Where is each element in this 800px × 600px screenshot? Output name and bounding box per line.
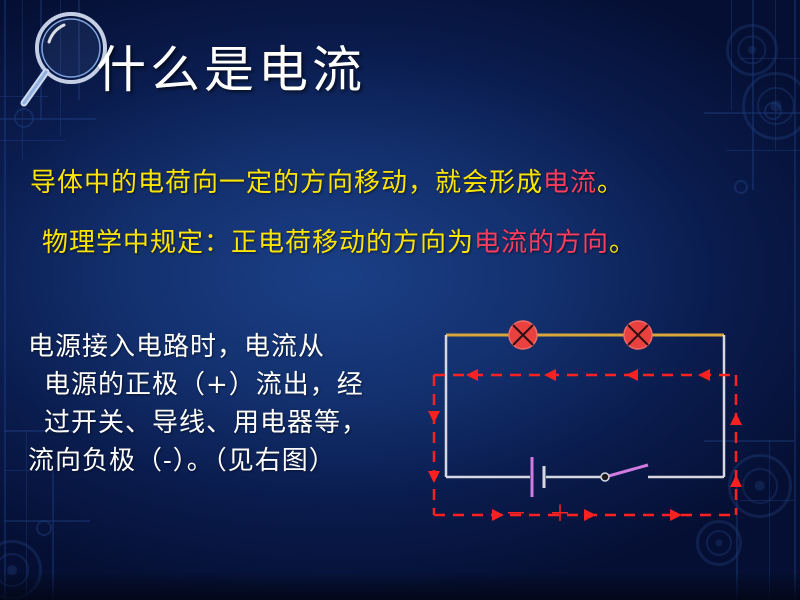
body-line-2-pre: 物理学中规定：正电荷移动的方向为 xyxy=(42,228,474,258)
body-line-2-post: 。 xyxy=(609,228,636,258)
current-path-dashed xyxy=(434,375,736,515)
paragraph-line-4: 流向负极（-）。（见右图） xyxy=(28,442,428,480)
switch-blade xyxy=(605,465,648,477)
paragraph-line-1: 电源接入电路时，电流从 xyxy=(28,328,428,366)
slide-canvas: 什么是电流 导体中的电荷向一定的方向移动，就会形成电流。 物理学中规定：正电荷移… xyxy=(0,0,800,600)
positive-terminal-label: ＋ xyxy=(549,502,571,527)
body-line-2-highlight: 电流的方向 xyxy=(474,228,609,258)
body-line-1-post: 。 xyxy=(597,168,624,198)
explanation-paragraph: 电源接入电路时，电流从 电源的正极（+）流出，经 过开关、导线、用电器等， 流向… xyxy=(28,328,428,480)
lamp-left xyxy=(509,321,537,349)
body-line-1-pre: 导体中的电荷向一定的方向移动，就会形成 xyxy=(30,168,543,198)
negative-terminal-label: － xyxy=(505,502,527,527)
paragraph-line-2: 电源的正极（+）流出，经 xyxy=(28,366,428,404)
circuit-diagram: － ＋ xyxy=(420,305,780,570)
page-title: 什么是电流 xyxy=(96,30,366,102)
switch-pivot xyxy=(601,473,609,481)
paragraph-line-3: 过开关、导线、用电器等， xyxy=(28,404,428,442)
footer-band xyxy=(0,574,800,600)
body-line-2: 物理学中规定：正电荷移动的方向为电流的方向。 xyxy=(42,222,636,259)
body-line-1: 导体中的电荷向一定的方向移动，就会形成电流。 xyxy=(30,162,624,199)
current-arrows xyxy=(428,369,742,521)
lamp-right xyxy=(624,321,652,349)
body-line-1-highlight: 电流 xyxy=(543,168,597,198)
